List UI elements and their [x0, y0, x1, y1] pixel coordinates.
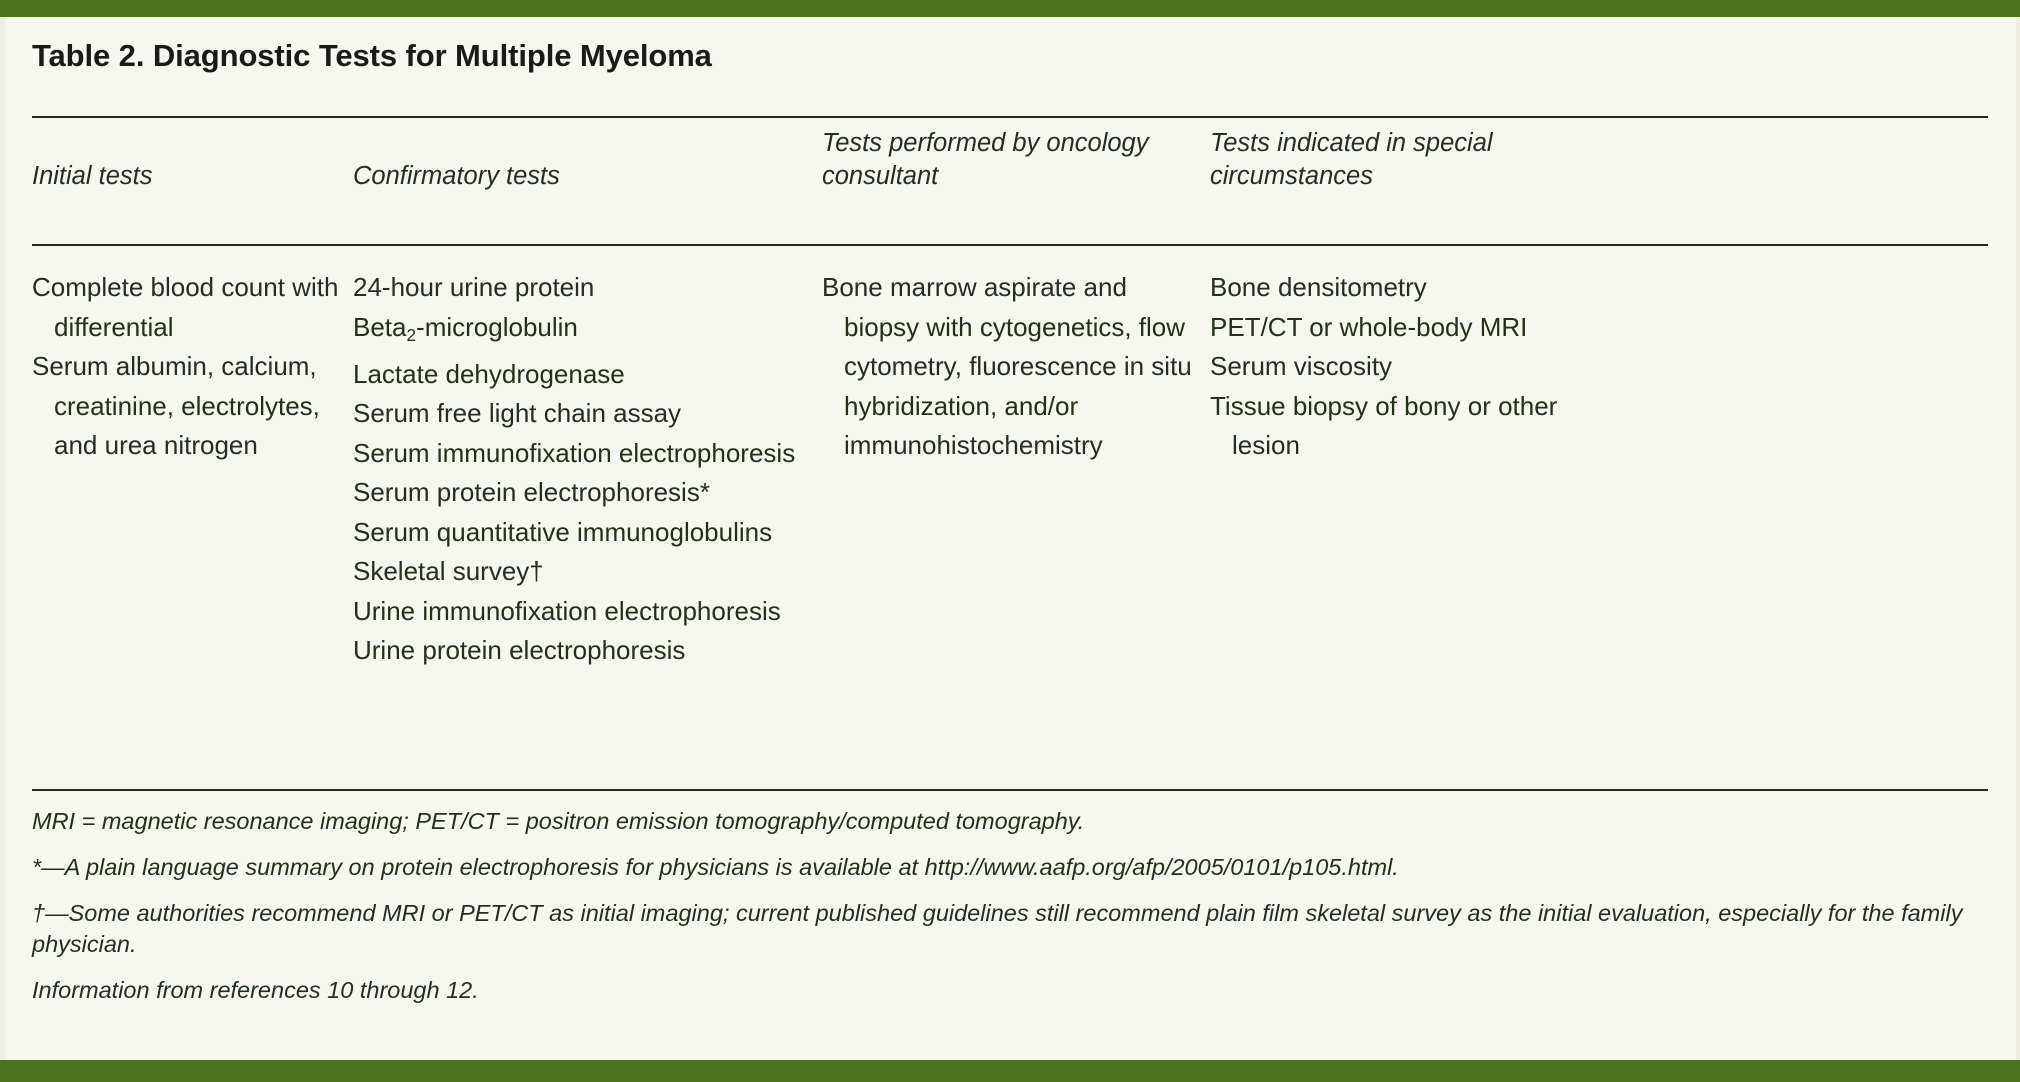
column-header-initial-tests: Initial tests: [32, 160, 342, 193]
footnote-asterisk: *—A plain language summary on protein el…: [32, 852, 1994, 883]
list-item: Serum viscosity: [1210, 347, 1630, 387]
footnote-abbreviations: MRI = magnetic resonance imaging; PET/CT…: [32, 806, 1994, 837]
column-header-oncology-consultant: Tests performed by oncology consultant: [822, 127, 1197, 193]
list-item: Skeletal survey†: [353, 552, 808, 592]
list-item: Bone densitometry: [1210, 268, 1630, 308]
column-body-confirmatory-tests: 24-hour urine protein Beta2-microglobuli…: [353, 268, 808, 671]
rule-below-headers: [32, 244, 1988, 246]
column-header-special-circumstances: Tests indicated in special circumstances: [1210, 127, 1630, 193]
list-item: Bone marrow aspirate and biopsy with cyt…: [822, 268, 1197, 466]
list-item: Serum quantitative immunoglobulins: [353, 513, 808, 553]
footnote-source: Information from references 10 through 1…: [32, 975, 1994, 1006]
right-edge: [2016, 17, 2020, 1060]
column-body-initial-tests: Complete blood count with differential S…: [32, 268, 342, 466]
column-header-confirmatory-tests: Confirmatory tests: [353, 160, 808, 193]
list-item: PET/CT or whole-body MRI: [1210, 308, 1630, 348]
top-accent-bar: [0, 0, 2020, 17]
list-item: Serum immunofixation electrophoresis: [353, 434, 808, 474]
list-item: Urine immunofixation electrophoresis: [353, 592, 808, 632]
list-item: Serum free light chain assay: [353, 394, 808, 434]
list-item: Tissue biopsy of bony or other lesion: [1210, 387, 1630, 466]
rule-above-footnotes: [32, 789, 1988, 791]
list-item-beta2-microglobulin: Beta2-microglobulin: [353, 308, 808, 355]
list-item: Urine protein electrophoresis: [353, 631, 808, 671]
left-edge: [0, 17, 5, 1060]
footnotes: MRI = magnetic resonance imaging; PET/CT…: [32, 806, 1994, 1006]
footnote-dagger: †—Some authorities recommend MRI or PET/…: [32, 898, 1994, 960]
column-body-oncology-consultant: Bone marrow aspirate and biopsy with cyt…: [822, 268, 1197, 466]
list-item: Complete blood count with differential: [32, 268, 342, 347]
list-item: Serum albumin, calcium, creatinine, elec…: [32, 347, 342, 466]
list-item: 24-hour urine protein: [353, 268, 808, 308]
list-item: Lactate dehydrogenase: [353, 355, 808, 395]
subscript-2: 2: [407, 324, 417, 344]
list-item: Serum protein electrophoresis*: [353, 473, 808, 513]
column-body-special-circumstances: Bone densitometry PET/CT or whole-body M…: [1210, 268, 1630, 466]
table-title: Table 2. Diagnostic Tests for Multiple M…: [32, 38, 712, 74]
bottom-accent-bar: [0, 1060, 2020, 1082]
table-figure: Table 2. Diagnostic Tests for Multiple M…: [0, 0, 2020, 1082]
rule-below-title: [32, 116, 1988, 118]
